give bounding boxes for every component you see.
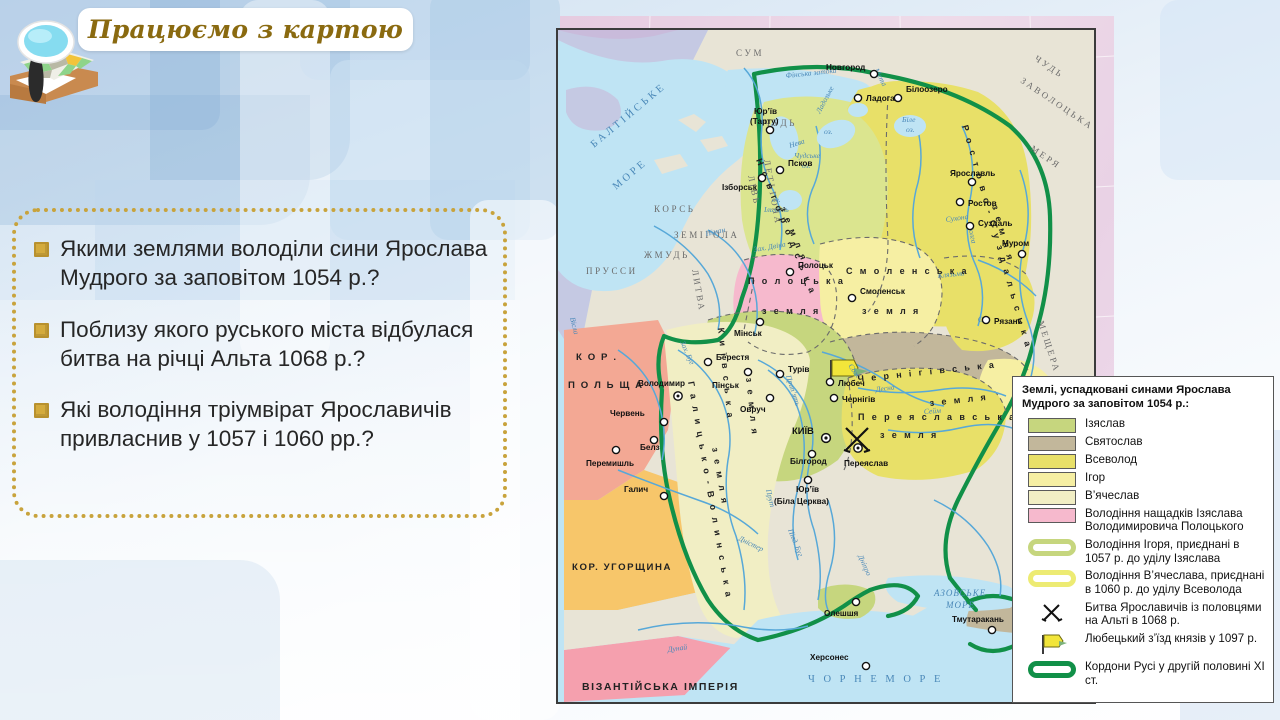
- legend-row: Всеволод: [1022, 453, 1265, 469]
- legend-label: Ізяслав: [1085, 417, 1125, 431]
- legend-label: Всеволод: [1085, 453, 1137, 467]
- svg-text:Галич: Галич: [624, 485, 648, 494]
- svg-text:Ладога: Ладога: [866, 94, 895, 103]
- svg-text:Пінськ: Пінськ: [712, 381, 740, 390]
- svg-text:Псков: Псков: [788, 159, 812, 168]
- question-item: Якими землями володіли сини Ярослава Муд…: [34, 234, 489, 293]
- svg-text:Смоленськ: Смоленськ: [860, 287, 906, 296]
- page-title: Працюємо з картою: [88, 15, 403, 44]
- svg-text:Білгород: Білгород: [790, 457, 828, 466]
- svg-text:Юр’їв: Юр’їв: [796, 485, 819, 494]
- question-text: Поблизу якого руського міста відбулася б…: [60, 315, 489, 374]
- svg-text:КИЇВ: КИЇВ: [792, 425, 814, 436]
- svg-text:Володимир: Володимир: [638, 379, 685, 388]
- map-label-sea: АЗОВСЬКЕ: [933, 588, 986, 598]
- legend-row: Володіння В’ячеслава, приєднані в 1060 р…: [1022, 569, 1265, 596]
- svg-text:Тмутаракань: Тмутаракань: [952, 615, 1004, 624]
- map-label-land: з е м л я: [862, 306, 921, 316]
- legend-row: Володіння нащадків Ізяслава Володимирови…: [1022, 507, 1265, 534]
- checkbox-bullet-icon: [34, 323, 49, 338]
- map-label-tribe: ПРУССИ: [586, 266, 638, 276]
- map-label-tribe: СУМ: [736, 48, 764, 58]
- svg-text:Новгород: Новгород: [826, 63, 866, 72]
- legend-label: Володіння В’ячеслава, приєднані в 1060 р…: [1085, 569, 1265, 596]
- svg-text:Переяслав: Переяслав: [844, 459, 888, 468]
- question-item: Які володіння тріумвірат Ярославичів при…: [34, 395, 489, 454]
- legend-row: Святослав: [1022, 435, 1265, 451]
- map-label-land: з е м л я: [762, 306, 821, 316]
- title-banner: Працюємо з картою: [78, 8, 413, 51]
- legend-label: Любецький з’їзд князів у 1097 р.: [1085, 632, 1257, 646]
- legend-swatch-ihor: [1028, 472, 1076, 487]
- crossed-swords-icon: [1028, 601, 1076, 625]
- svg-text:Мінськ: Мінськ: [734, 329, 763, 338]
- map-label-land: П о л о ц ь к а: [748, 276, 845, 286]
- legend-row: Ізяслав: [1022, 417, 1265, 433]
- svg-text:Ростов: Ростов: [968, 199, 997, 208]
- legend-row: Любецький з’їзд князів у 1097 р.: [1022, 632, 1265, 656]
- map-label-land: з е м л я: [880, 430, 939, 440]
- legend-swatch-vyacheslav: [1028, 490, 1076, 505]
- legend-row: В’ячеслав: [1022, 489, 1265, 505]
- bg-shape: [0, 560, 280, 720]
- legend-row: Кордони Русі у другій половині XI ст.: [1022, 660, 1265, 687]
- map-label-tribe: КОРСЬ: [654, 204, 696, 214]
- legend-label: В’ячеслав: [1085, 489, 1139, 503]
- svg-text:(Біла Церква): (Біла Церква): [774, 497, 829, 506]
- svg-text:Перемишль: Перемишль: [586, 459, 634, 468]
- questions-panel: Якими землями володіли сини Ярослава Муд…: [12, 208, 507, 518]
- svg-text:Ярославль: Ярославль: [950, 169, 995, 178]
- svg-text:Белз: Белз: [640, 443, 660, 452]
- legend-outline-ihor: [1028, 539, 1076, 556]
- legend-label: Ігор: [1085, 471, 1105, 485]
- svg-text:Рязань: Рязань: [994, 317, 1023, 326]
- svg-text:Суздаль: Суздаль: [978, 219, 1012, 228]
- svg-text:Олешшя: Олешшя: [824, 609, 859, 618]
- svg-text:оз.: оз.: [824, 127, 833, 136]
- map-label-land: С м о л е н с ь к а: [846, 266, 969, 276]
- slide-canvas: Працюємо з картою Якими землями володіли…: [0, 0, 1280, 720]
- legend-label: Кордони Русі у другій половині XI ст.: [1085, 660, 1265, 687]
- svg-text:Юр’їв: Юр’їв: [754, 107, 777, 116]
- map-label-sea: Ч О Р Н Е М О Р Е: [808, 674, 943, 685]
- legend-row: Ігор: [1022, 471, 1265, 487]
- question-text: Які володіння тріумвірат Ярославичів при…: [60, 395, 489, 454]
- checkbox-bullet-icon: [34, 242, 49, 257]
- legend-swatch-svyatoslav: [1028, 436, 1076, 451]
- svg-text:Любеч: Любеч: [838, 378, 865, 388]
- map-label-state: П О Л Ь Щ А: [568, 380, 644, 391]
- legend-label: Святослав: [1085, 435, 1142, 449]
- svg-text:оз.: оз.: [906, 125, 915, 134]
- svg-text:(Тарту): (Тарту): [750, 117, 779, 126]
- legend-label: Володіння нащадків Ізяслава Володимирови…: [1085, 507, 1265, 534]
- legend-swatch-vsevolod: [1028, 454, 1076, 469]
- svg-text:Ізборськ: Ізборськ: [722, 182, 758, 192]
- svg-text:Турів: Турів: [788, 365, 809, 374]
- svg-text:Чернігів: Чернігів: [842, 395, 875, 404]
- legend-outline-vyacheslav: [1028, 570, 1076, 587]
- svg-text:Червень: Червень: [610, 409, 645, 418]
- svg-text:Овруч: Овруч: [740, 405, 766, 414]
- map-label-state: КОР. УГОРЩИНА: [572, 562, 672, 573]
- legend-swatch-polotsk: [1028, 508, 1076, 523]
- svg-text:Білоозеро: Білоозеро: [906, 85, 948, 94]
- yellow-flag-icon: [1028, 632, 1076, 656]
- question-item: Поблизу якого руського міста відбулася б…: [34, 315, 489, 374]
- svg-text:Муром: Муром: [1002, 239, 1029, 248]
- bg-shape: [1160, 0, 1280, 180]
- map-label-state: ВІЗАНТІЙСЬКА ІМПЕРІЯ: [582, 680, 739, 693]
- legend-swatch-izyaslav: [1028, 418, 1076, 433]
- map-label-tribe: ЖМУДЬ: [644, 250, 690, 260]
- legend-row: Володіння Ігоря, приєднані в 1057 р. до …: [1022, 538, 1265, 565]
- question-text: Якими землями володіли сини Ярослава Муд…: [60, 234, 489, 293]
- legend-label: Битва Ярославичів із половцями на Альті …: [1085, 601, 1265, 628]
- svg-text:Берестя: Берестя: [716, 353, 749, 362]
- legend-row: Битва Ярославичів із половцями на Альті …: [1022, 601, 1265, 628]
- map-legend: Землі, успадковані синами Ярослава Мудро…: [1012, 376, 1274, 703]
- legend-title: Землі, успадковані синами Ярослава Мудро…: [1022, 384, 1265, 412]
- svg-text:Полоцьк: Полоцьк: [798, 261, 834, 270]
- svg-text:Біле: Біле: [901, 115, 916, 124]
- map-label-state: К О Р .: [576, 352, 618, 363]
- map-label-sea: МОРЕ: [945, 600, 975, 610]
- svg-text:Херсонес: Херсонес: [810, 653, 849, 662]
- legend-label: Володіння Ігоря, приєднані в 1057 р. до …: [1085, 538, 1265, 565]
- green-border-icon: [1028, 661, 1076, 678]
- map-label-land: П е р е я с л а в с ь к а: [858, 412, 1017, 422]
- checkbox-bullet-icon: [34, 403, 49, 418]
